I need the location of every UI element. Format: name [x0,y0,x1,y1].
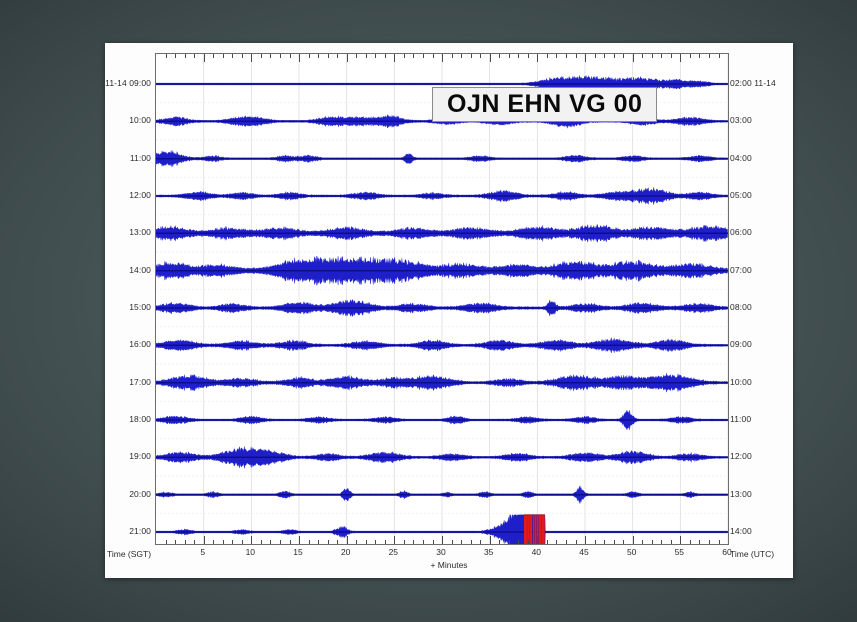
x-ticks-bottom [156,535,728,544]
left-time-label: 10:00 [105,115,151,125]
screenshot-root: OJN EHN VG 00 11-14 09:0010:0011:0012:00… [0,0,857,622]
left-time-label: 21:00 [105,526,151,536]
right-time-label: 13:00 [730,489,752,499]
helicorder-panel: OJN EHN VG 00 11-14 09:0010:0011:0012:00… [105,43,793,578]
right-time-label: 06:00 [730,227,752,237]
right-time-label: 03:00 [730,115,752,125]
left-axis-caption: Time (SGT) [107,549,151,559]
left-time-label: 19:00 [105,451,151,461]
right-axis-caption: Time (UTC) [730,549,774,559]
x-tick-label: 10 [236,547,264,557]
x-tick-label: 40 [522,547,550,557]
left-time-label: 14:00 [105,265,151,275]
right-time-label: 10:00 [730,377,752,387]
right-time-label: 07:00 [730,265,752,275]
left-time-label: 15:00 [105,302,151,312]
left-time-label: 18:00 [105,414,151,424]
x-tick-label: 55 [665,547,693,557]
trace-layer [156,54,728,544]
x-tick-label: 20 [332,547,360,557]
x-ticks-top [156,54,728,63]
left-time-label: 16:00 [105,339,151,349]
page-title: OJN EHN VG 00 [432,87,657,122]
x-axis-caption: + Minutes [105,560,793,570]
right-time-label: 02:00 11-14 [730,78,776,88]
left-time-label: 13:00 [105,227,151,237]
x-tick-label: 5 [189,547,217,557]
right-time-label: 08:00 [730,302,752,312]
right-time-label: 11:00 [730,414,751,424]
x-tick-label: 35 [475,547,503,557]
left-time-label: 11:00 [105,153,151,163]
right-time-label: 14:00 [730,526,752,536]
right-time-label: 04:00 [730,153,752,163]
right-time-label: 05:00 [730,190,752,200]
left-time-label: 20:00 [105,489,151,499]
left-time-label: 11-14 09:00 [105,78,151,88]
x-tick-label: 50 [618,547,646,557]
helicorder-plot [155,53,729,545]
x-tick-label: 45 [570,547,598,557]
right-time-label: 09:00 [730,339,752,349]
left-time-label: 12:00 [105,190,151,200]
x-tick-label: 30 [427,547,455,557]
x-tick-label: 15 [284,547,312,557]
right-time-label: 12:00 [730,451,752,461]
x-tick-label: 25 [379,547,407,557]
left-time-label: 17:00 [105,377,151,387]
